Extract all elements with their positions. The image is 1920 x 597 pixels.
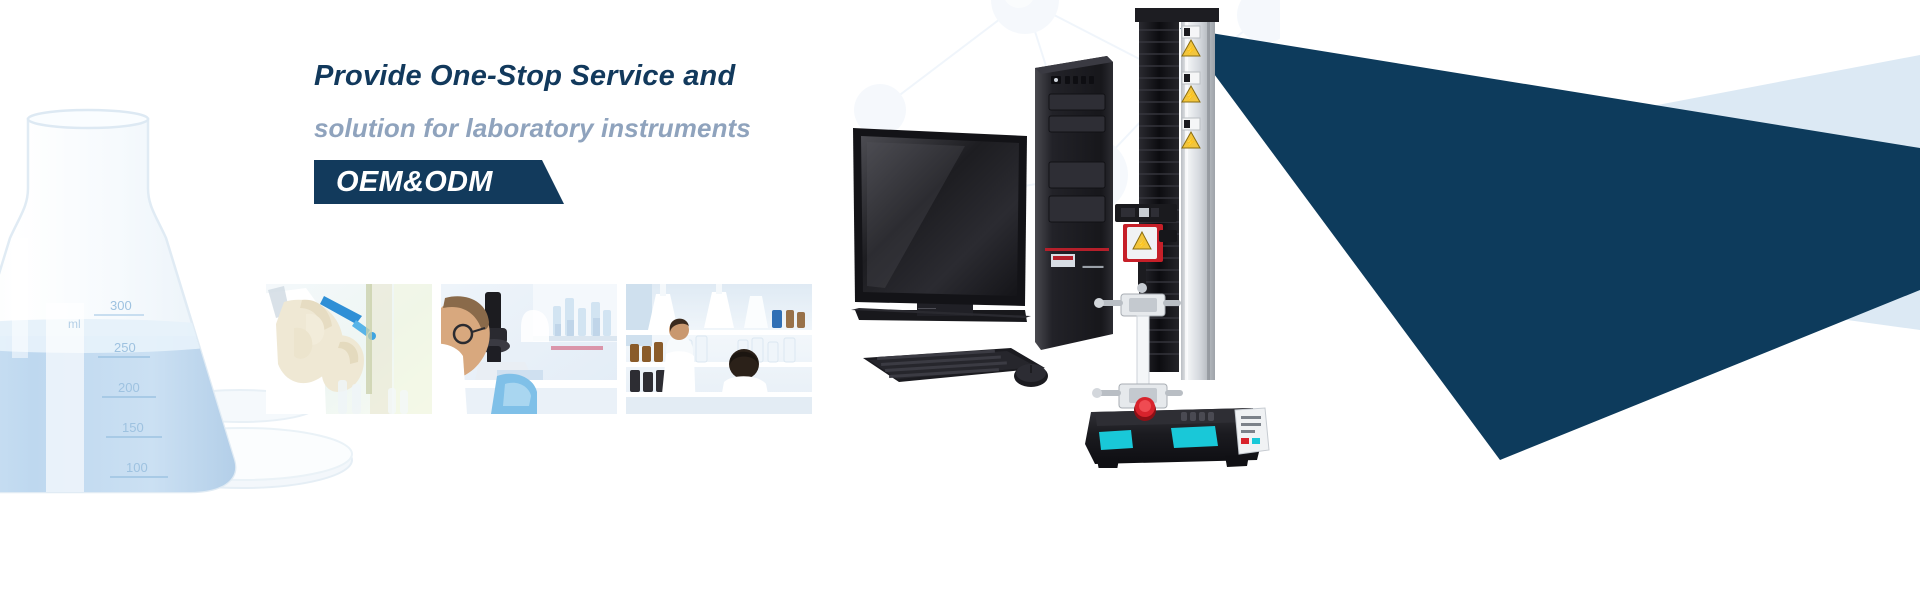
desktop-monitor: ——— [851, 128, 1031, 322]
badge-label: OEM&ODM [336, 160, 493, 204]
svg-text:100: 100 [126, 460, 148, 475]
svg-text:⚡: ⚡ [1137, 239, 1147, 249]
machine-base [1085, 397, 1269, 468]
svg-text:———: ——— [918, 306, 936, 312]
photo-microscope [441, 284, 617, 414]
universal-testing-machine: ⚡ ⚡ ⚡ ⚡ [1085, 8, 1335, 468]
svg-text:300: 300 [110, 298, 132, 313]
photo-pipetting [266, 284, 432, 414]
photo-lab-bench [626, 284, 812, 414]
svg-text:250: 250 [114, 340, 136, 355]
svg-text:150: 150 [122, 420, 144, 435]
svg-text:200: 200 [118, 380, 140, 395]
promo-banner: 300 250 200 150 100 ml Provide One-Stop … [0, 0, 1920, 597]
svg-text:⚡: ⚡ [1185, 90, 1196, 102]
svg-text:ml: ml [68, 317, 81, 331]
svg-text:⚡: ⚡ [1185, 44, 1196, 56]
svg-text:⚡: ⚡ [1185, 136, 1196, 148]
photo-strip [266, 284, 812, 414]
oem-odm-badge[interactable]: OEM&ODM [314, 160, 564, 204]
